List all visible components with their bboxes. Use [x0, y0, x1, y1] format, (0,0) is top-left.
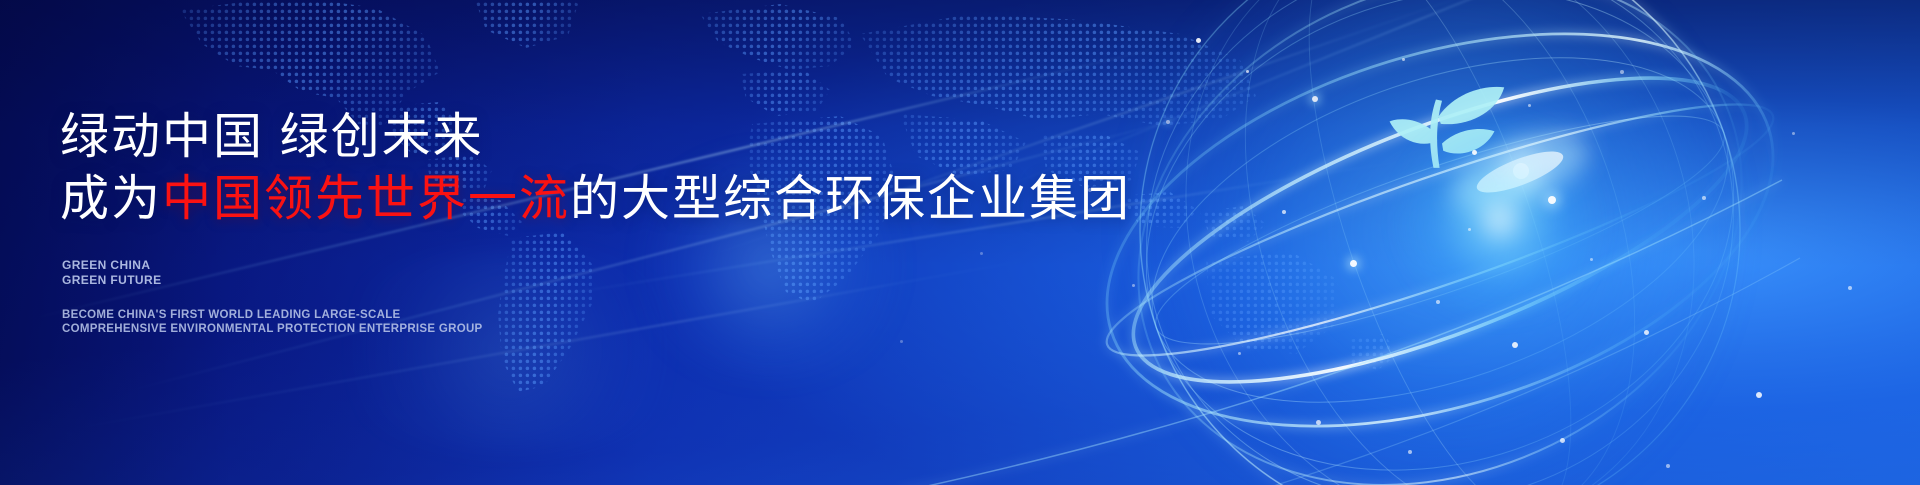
headline-highlight: 中国领先世界一流	[162, 172, 570, 226]
banner-content: 绿动中国 绿创未来 成为中国领先世界一流的大型综合环保企业集团 GREEN CH…	[60, 0, 1060, 485]
hero-banner: 绿动中国 绿创未来 成为中国领先世界一流的大型综合环保企业集团 GREEN CH…	[0, 0, 1920, 485]
page-title: 绿动中国 绿创未来 成为中国领先世界一流的大型综合环保企业集团	[60, 107, 1131, 230]
globe-core-glow	[1380, 120, 1620, 320]
headline-suffix: 的大型综合环保企业集团	[570, 172, 1131, 226]
description-english: BECOME CHINA'S FIRST WORLD LEADING LARGE…	[62, 308, 483, 337]
description-line-1: BECOME CHINA'S FIRST WORLD LEADING LARGE…	[62, 308, 483, 322]
headline-prefix: 成为	[60, 172, 162, 226]
description-line-2: COMPREHENSIVE ENVIRONMENTAL PROTECTION E…	[62, 322, 483, 336]
headline-line-2: 成为中国领先世界一流的大型综合环保企业集团	[60, 169, 1131, 231]
headline-line-1: 绿动中国 绿创未来	[60, 110, 484, 164]
slogan-line-1: GREEN CHINA	[62, 258, 161, 273]
slogan-english: GREEN CHINA GREEN FUTURE	[62, 258, 161, 287]
slogan-line-2: GREEN FUTURE	[62, 273, 161, 288]
